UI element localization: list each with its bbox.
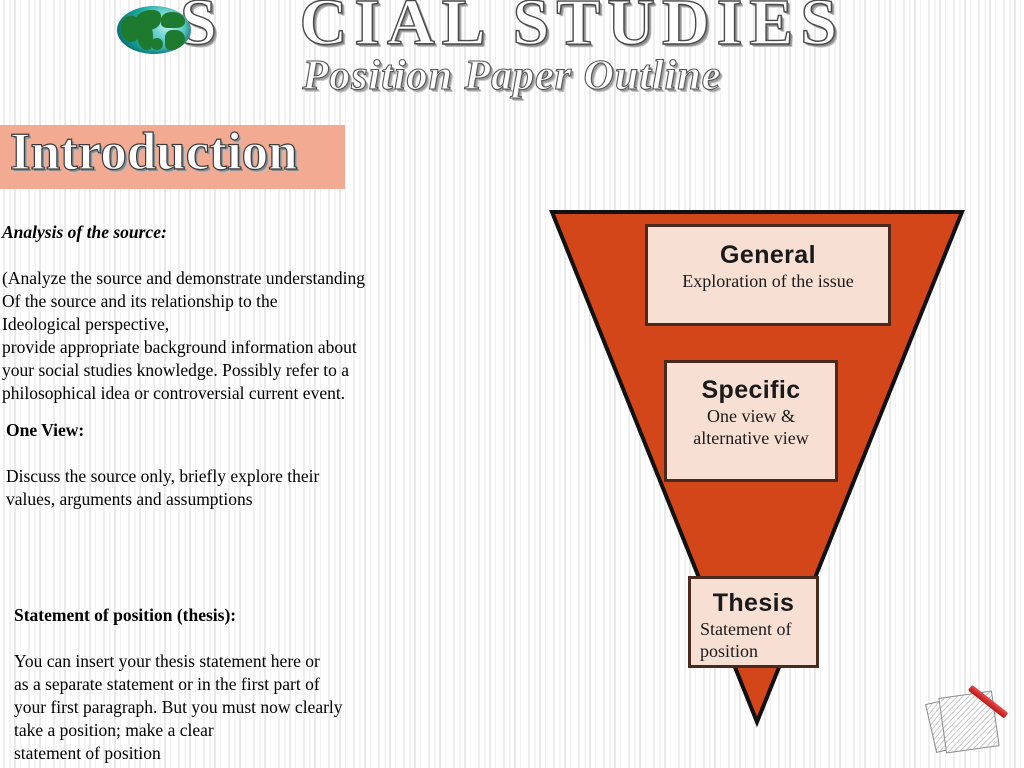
funnel-box-specific-title: Specific	[667, 375, 835, 405]
funnel-box-general: General Exploration of the issue	[645, 224, 891, 326]
globe-icon	[117, 6, 191, 54]
page-subtitle: Position Paper Outline	[0, 52, 1024, 100]
slide-canvas: SCIAL STUDIES Position Paper Outline Int…	[0, 0, 1024, 768]
text-block-analysis-heading: Analysis of the source:	[2, 221, 450, 244]
text-block-one-view: One View: Discuss the source only, brief…	[6, 396, 446, 534]
text-block-analysis-body: (Analyze the source and demonstrate unde…	[2, 267, 450, 405]
funnel-box-thesis: Thesis Statement of position	[688, 576, 819, 668]
funnel-box-specific: Specific One view & alternative view	[664, 360, 838, 482]
funnel-diagram: General Exploration of the issue Specifi…	[540, 200, 980, 740]
text-block-one-view-body: Discuss the source only, briefly explore…	[6, 465, 446, 511]
funnel-box-thesis-subtitle: Statement of position	[691, 618, 816, 662]
text-block-statement-of-position: Statement of position (thesis): You can …	[14, 581, 444, 768]
section-banner-introduction: Introduction	[0, 125, 345, 189]
slide-header: SCIAL STUDIES Position Paper Outline	[0, 0, 1024, 118]
text-block-one-view-heading: One View:	[6, 419, 446, 442]
section-banner-label: Introduction	[10, 120, 298, 184]
notepad-pen-icon	[930, 676, 1014, 756]
funnel-box-general-title: General	[648, 240, 888, 270]
text-block-statement-of-position-body: You can insert your thesis statement her…	[14, 650, 444, 765]
text-block-analysis: Analysis of the source: (Analyze the sou…	[2, 198, 450, 428]
funnel-box-general-subtitle: Exploration of the issue	[648, 270, 888, 292]
text-block-statement-of-position-heading: Statement of position (thesis):	[14, 604, 444, 627]
page-title-part-b: CIAL STUDIES	[300, 0, 844, 59]
funnel-box-specific-subtitle: One view & alternative view	[667, 405, 835, 449]
funnel-box-thesis-title: Thesis	[691, 588, 816, 618]
